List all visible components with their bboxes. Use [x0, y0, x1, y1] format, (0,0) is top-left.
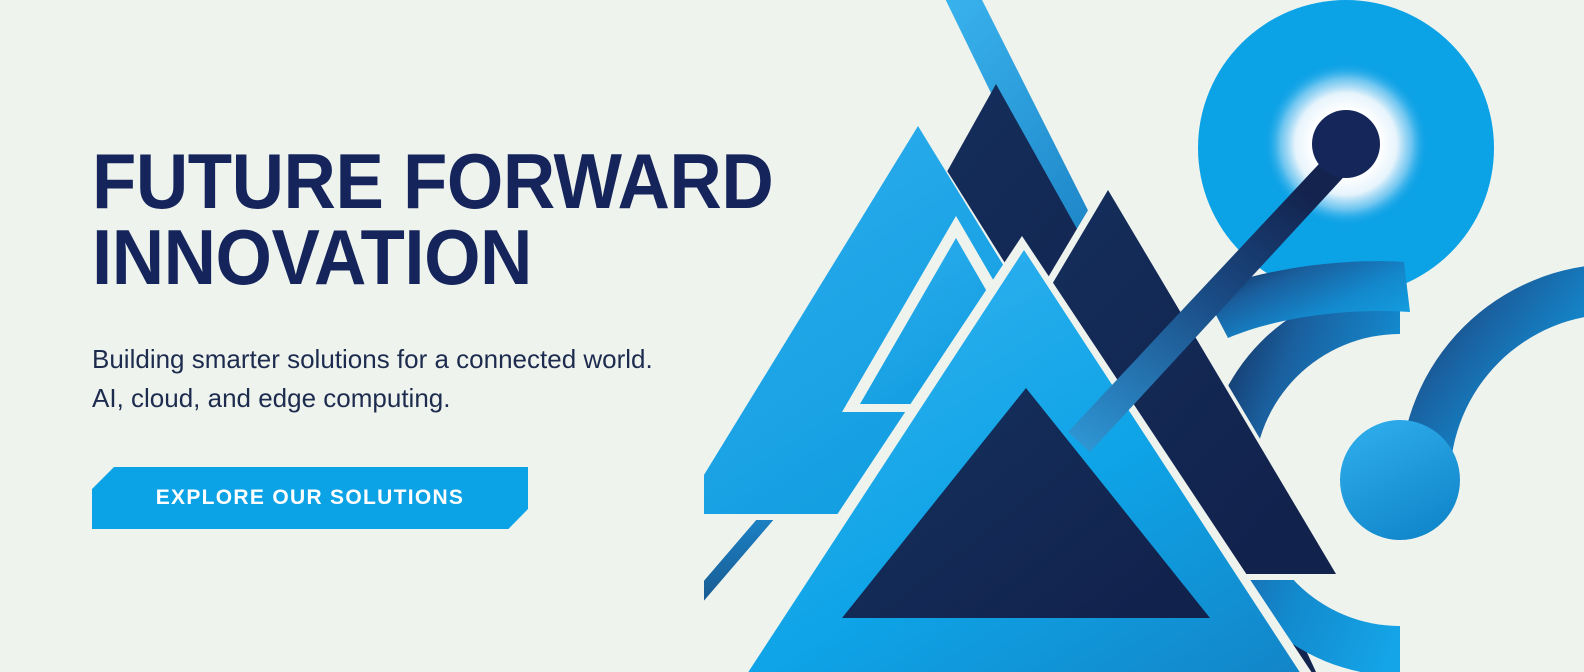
hero-content: FUTURE FORWARD INNOVATION Building smart…	[92, 0, 972, 672]
lower-right-spiral-ring	[1200, 108, 1584, 492]
page-title: FUTURE FORWARD INNOVATION	[92, 143, 910, 296]
hero-banner: FUTURE FORWARD INNOVATION Building smart…	[0, 0, 1584, 672]
spiral-outer-arm	[1400, 264, 1584, 480]
explore-our-solutions-button[interactable]: EXPLORE OUR SOLUTIONS	[92, 467, 528, 529]
navy-center-dot	[1312, 110, 1380, 178]
spiral-inner-disc	[1340, 420, 1460, 540]
target-glow-ring	[1264, 62, 1428, 226]
spiral-ring-group	[1204, 250, 1584, 672]
cta-container: EXPLORE OUR SOLUTIONS	[92, 467, 972, 529]
long-diagonal-stroke	[936, 0, 1316, 672]
hero-subheadline: Building smarter solutions for a connect…	[92, 340, 972, 419]
connector-stem	[1068, 150, 1352, 452]
spiral-arm-extension	[1204, 261, 1410, 338]
top-right-target-circle	[1198, 0, 1494, 296]
